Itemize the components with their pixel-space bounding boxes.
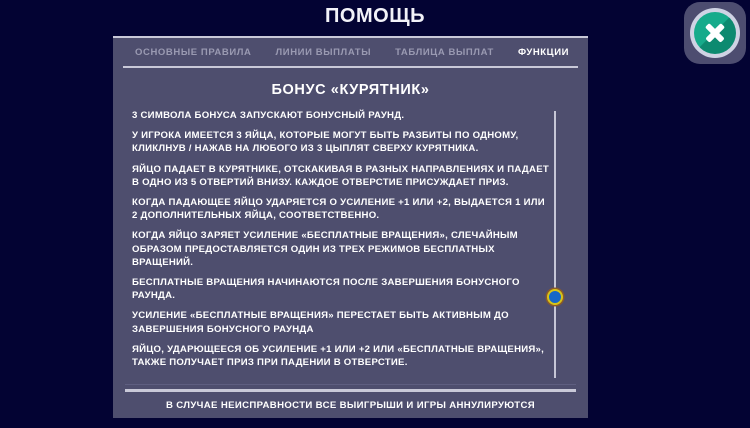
- content-paragraph: 3 СИМВОЛА БОНУСА ЗАПУСКАЮТ БОНУСНЫЙ РАУН…: [132, 109, 552, 122]
- content-text: 3 СИМВОЛА БОНУСА ЗАПУСКАЮТ БОНУСНЫЙ РАУН…: [132, 109, 552, 376]
- tab-linii-vyplaty[interactable]: ЛИНИИ ВЫПЛАТЫ: [264, 47, 384, 58]
- close-button-disc: [694, 12, 736, 54]
- content-paragraph: БЕСПЛАТНЫЕ ВРАЩЕНИЯ НАЧИНАЮТСЯ ПОСЛЕ ЗАВ…: [132, 276, 552, 302]
- content-area: 3 СИМВОЛА БОНУСА ЗАПУСКАЮТ БОНУСНЫЙ РАУН…: [113, 109, 588, 384]
- content-paragraph: ЯЙЦО, УДАРЮЩЕЕСЯ ОБ УСИЛЕНИЕ +1 ИЛИ +2 И…: [132, 343, 552, 369]
- close-button-ring: [690, 8, 740, 58]
- tab-tablica-vyplat[interactable]: ТАБЛИЦА ВЫПЛАТ: [383, 47, 506, 58]
- tab-osnovnye-pravila[interactable]: ОСНОВНЫЕ ПРАВИЛА: [123, 47, 264, 58]
- footer-divider-faint: [125, 384, 576, 385]
- scrollbar-thumb[interactable]: [547, 289, 563, 305]
- content-paragraph: КОГДА ЯЙЦО ЗАРЯЕТ УСИЛЕНИЕ «БЕСПЛАТНЫЕ В…: [132, 229, 552, 269]
- tab-funkcii[interactable]: ФУНКЦИИ: [506, 47, 581, 58]
- help-panel: ОСНОВНЫЕ ПРАВИЛА ЛИНИИ ВЫПЛАТЫ ТАБЛИЦА В…: [113, 36, 588, 418]
- footer-disclaimer: В СЛУЧАЕ НЕИСПРАВНОСТИ ВСЕ ВЫИГРЫШИ И ИГ…: [166, 400, 535, 411]
- tab-bar: ОСНОВНЫЕ ПРАВИЛА ЛИНИИ ВЫПЛАТЫ ТАБЛИЦА В…: [113, 38, 588, 66]
- footer-bar: В СЛУЧАЕ НЕИСПРАВНОСТИ ВСЕ ВЫИГРЫШИ И ИГ…: [113, 392, 588, 418]
- close-button[interactable]: [684, 2, 746, 64]
- section-title: БОНУС «КУРЯТНИК»: [113, 68, 588, 109]
- content-paragraph: УСИЛЕНИЕ «БЕСПЛАТНЫЕ ВРАЩЕНИЯ» ПЕРЕСТАЕТ…: [132, 309, 552, 335]
- content-paragraph: У ИГРОКА ИМЕЕТСЯ 3 ЯЙЦА, КОТОРЫЕ МОГУТ Б…: [132, 129, 552, 155]
- close-icon: [704, 22, 726, 44]
- page-title: ПОМОЩЬ: [0, 2, 750, 30]
- scrollbar[interactable]: [547, 111, 563, 378]
- scrollbar-track[interactable]: [554, 111, 556, 378]
- content-paragraph: ЯЙЦО ПАДАЕТ В КУРЯТНИКЕ, ОТСКАКИВАЯ В РА…: [132, 163, 552, 189]
- content-paragraph: КОГДА ПАДАЮЩЕЕ ЯЙЦО УДАРЯЕТСЯ О УСИЛЕНИЕ…: [132, 196, 552, 222]
